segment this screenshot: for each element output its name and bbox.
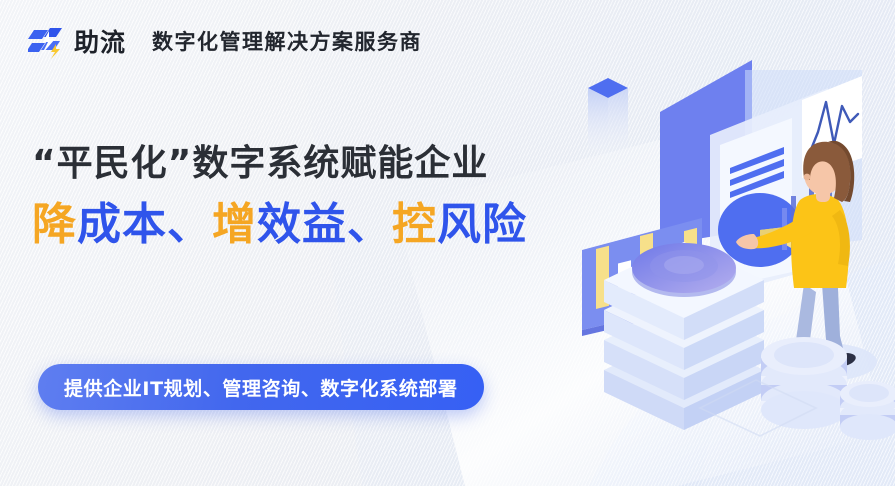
headline-part-zeng: 增: [212, 199, 257, 250]
headline-part-fengxian: 风险: [437, 199, 527, 250]
headline-part-chengben: 成本: [77, 199, 167, 250]
headline-part-xiaoyi: 效益: [257, 199, 347, 250]
server-stack: [604, 242, 764, 430]
headline-comma-1: 、: [167, 199, 212, 250]
brand-header: 助流 数字化管理解决方案服务商: [28, 24, 422, 60]
brand-tagline: 数字化管理解决方案服务商: [152, 32, 422, 53]
floating-cube-icon: [588, 78, 628, 158]
data-analytics-dashboard-illustration: [560, 40, 895, 486]
zhuliu-lightning-logo-icon: [28, 24, 68, 60]
services-cta-button[interactable]: 提供企业IT规划、管理咨询、数字化系统部署: [38, 364, 484, 410]
headline-primary: “平民化”数字系统赋能企业: [32, 142, 527, 185]
headline-comma-2: 、: [347, 199, 392, 250]
hero-copy: “平民化”数字系统赋能企业 降成本、增效益、控风险: [32, 142, 527, 252]
promo-banner: 助流 数字化管理解决方案服务商 “平民化”数字系统赋能企业 降成本、增效益、控风…: [0, 0, 895, 486]
headline-part-kong: 控: [392, 199, 437, 250]
headline-part-jiang: 降: [32, 199, 77, 250]
coin-stacks: [761, 337, 895, 440]
headline-secondary: 降成本、增效益、控风险: [32, 199, 527, 252]
brand-name: 助流: [74, 30, 126, 55]
